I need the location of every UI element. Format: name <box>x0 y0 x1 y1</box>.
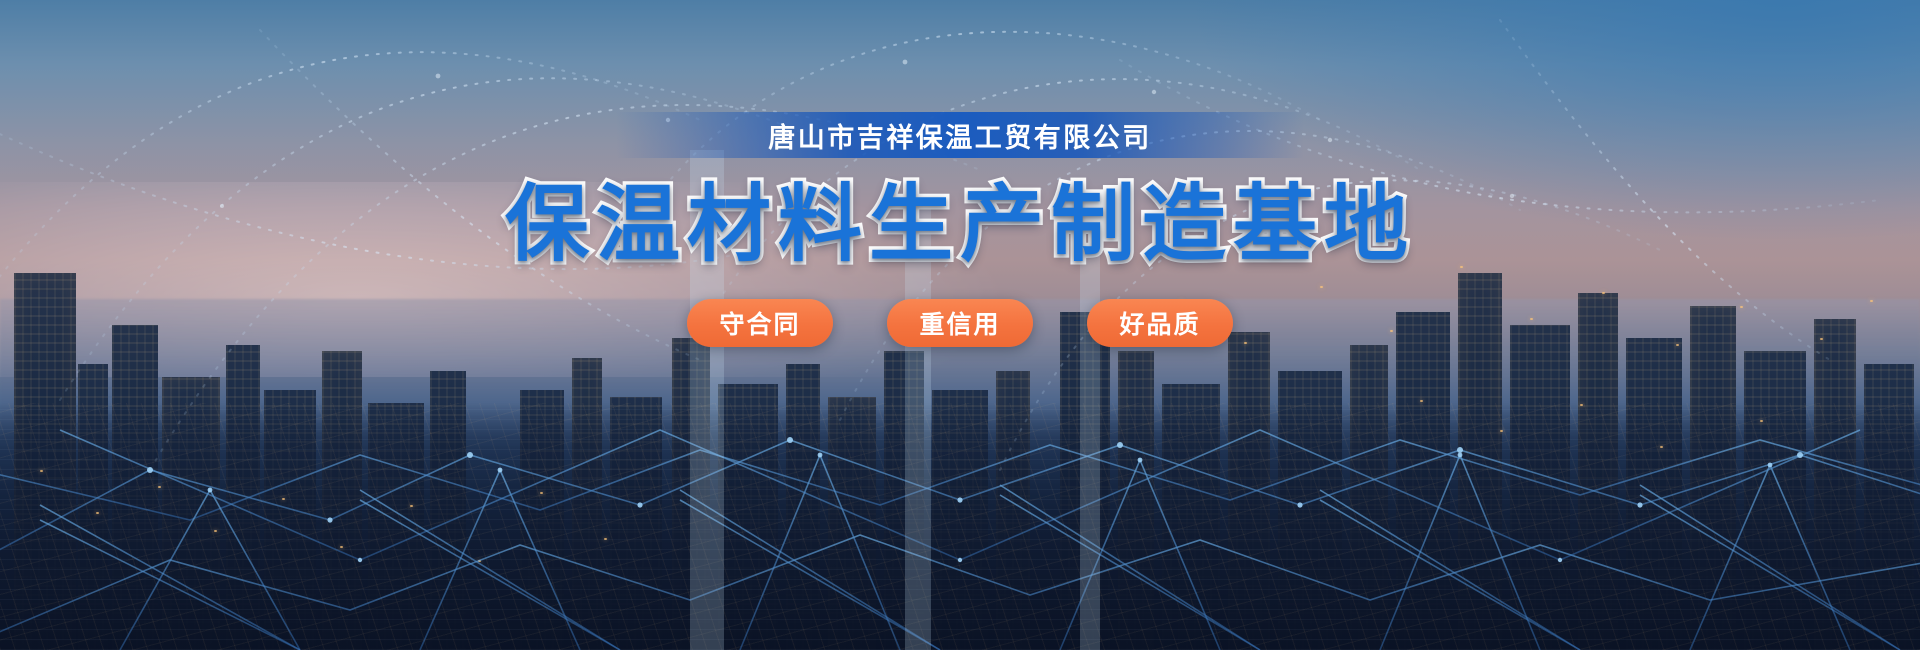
headline-title: 保温材料生产制造基地 <box>505 180 1415 269</box>
banner-content: 唐山市吉祥保温工贸有限公司 保温材料生产制造基地 守合同 重信用 好品质 <box>0 0 1920 650</box>
company-name-band: 唐山市吉祥保温工贸有限公司 <box>616 112 1304 158</box>
hero-banner: 唐山市吉祥保温工贸有限公司 保温材料生产制造基地 守合同 重信用 好品质 <box>0 0 1920 650</box>
company-name: 唐山市吉祥保温工贸有限公司 <box>768 116 1152 155</box>
pill-badge-credit[interactable]: 重信用 <box>887 299 1033 347</box>
pill-badge-contract[interactable]: 守合同 <box>687 299 833 347</box>
feature-pill-group: 守合同 重信用 好品质 <box>687 299 1233 347</box>
pill-label: 重信用 <box>919 305 1000 341</box>
pill-badge-quality[interactable]: 好品质 <box>1087 299 1233 347</box>
pill-label: 守合同 <box>719 305 800 341</box>
pill-label: 好品质 <box>1119 305 1200 341</box>
